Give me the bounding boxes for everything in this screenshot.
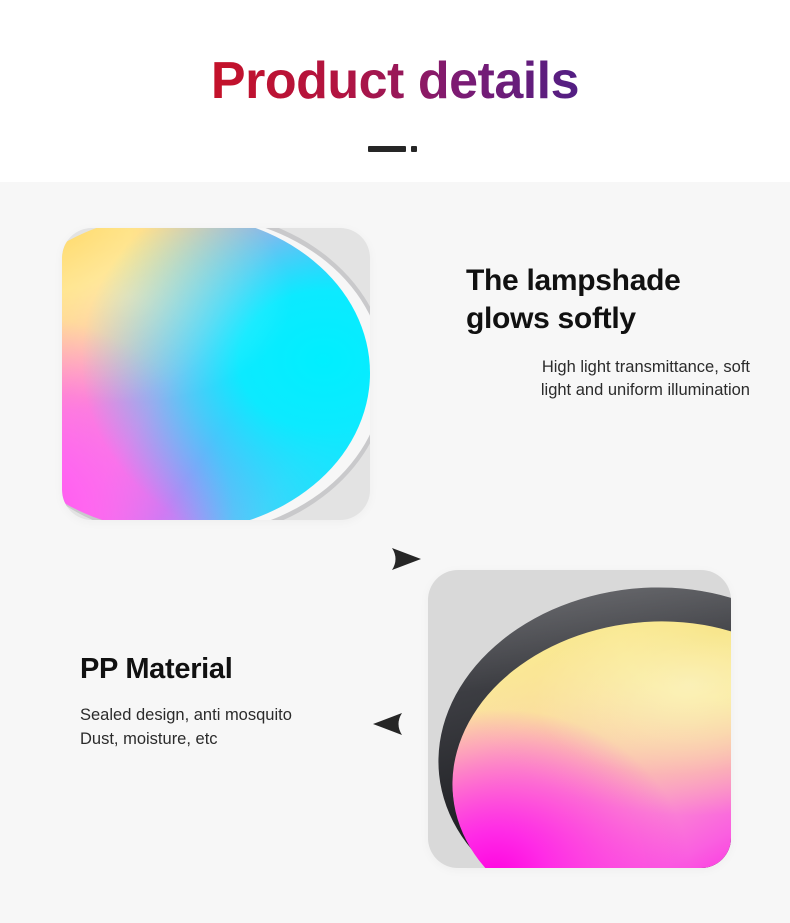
feature-body-line-2: light and uniform illumination xyxy=(466,379,750,402)
lamp-pp-diffuser-sheen xyxy=(437,602,731,868)
title-divider xyxy=(368,146,406,152)
feature-heading-pp-material: PP Material xyxy=(80,651,370,688)
feature-body-pp-material: Sealed design, anti mosquito Dust, moist… xyxy=(80,704,370,751)
content-area: The lampshade glows softly High light tr… xyxy=(0,182,790,923)
lampshade-image-clip xyxy=(62,228,370,520)
feature-heading-lampshade: The lampshade glows softly xyxy=(466,262,750,339)
pp-material-image-card xyxy=(428,570,731,868)
feature-body-line-2: Dust, moisture, etc xyxy=(80,728,370,751)
arrow-left-icon xyxy=(372,711,406,737)
arrow-right-icon xyxy=(388,546,422,572)
feature-body-line-1: Sealed design, anti mosquito xyxy=(80,704,370,727)
lampshade-feature-text: The lampshade glows softly High light tr… xyxy=(466,262,750,403)
feature-body-line-1: High light transmittance, soft xyxy=(466,356,750,379)
title-divider-dot xyxy=(411,146,417,152)
lampshade-image-card xyxy=(62,228,370,520)
pp-material-feature-text: PP Material Sealed design, anti mosquito… xyxy=(80,651,370,751)
feature-heading-line-1: The lampshade xyxy=(466,262,750,300)
feature-body-lampshade: High light transmittance, soft light and… xyxy=(466,356,750,403)
feature-heading-line-2: glows softly xyxy=(466,300,750,338)
header-band: Product details xyxy=(0,0,790,182)
page-title: Product details xyxy=(0,54,790,109)
